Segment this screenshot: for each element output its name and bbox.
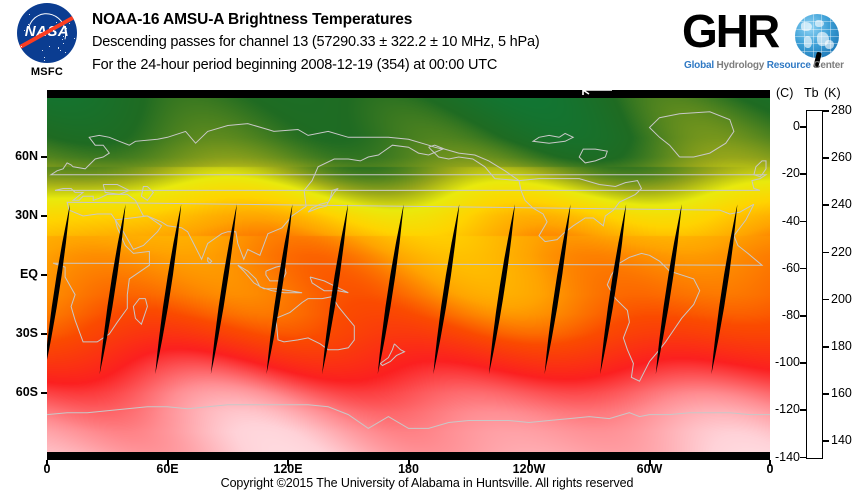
colorbar-tick-kelvin (823, 393, 829, 395)
globe-landmass (804, 36, 812, 48)
colorbar-tick-kelvin (823, 110, 829, 112)
map-xlabel: 180 (398, 462, 419, 476)
map-xlabel: 120E (273, 462, 302, 476)
map-ylabel: 60S (0, 385, 38, 399)
colorbar-tick-celsius (800, 315, 806, 317)
colorbar-tick-celsius (800, 126, 806, 128)
ghrc-subtitle-word-0: Global (684, 60, 714, 71)
swath-gap-layer (47, 98, 770, 452)
colorbar-label-kelvin: 220 (831, 245, 852, 259)
ghrc-wordmark: GHR (682, 8, 778, 54)
title-subline-channel: Descending passes for channel 13 (57290.… (92, 31, 672, 54)
nasa-star (56, 22, 57, 23)
map-xlabel: 120W (513, 462, 546, 476)
globe-landmass (825, 40, 834, 49)
ghrc-subtitle-word-2: Resource (767, 60, 811, 71)
swath-gap (100, 204, 126, 374)
colorbar-label-celsius: 0 (793, 119, 800, 133)
nasa-star (71, 58, 72, 59)
nasa-star (72, 54, 73, 55)
nasa-star (62, 39, 63, 40)
colorbar-variable-label: Tb (804, 86, 819, 100)
nasa-star (29, 14, 30, 15)
map-xlabel: 0 (767, 462, 774, 476)
colorbar-label-kelvin: 260 (831, 150, 852, 164)
colorbar-label-kelvin: 240 (831, 197, 852, 211)
map-ytick (41, 274, 47, 276)
swath-gap (378, 204, 404, 374)
title-block: NOAA-16 AMSU-A Brightness Temperatures D… (92, 8, 672, 77)
nasa-star (66, 28, 67, 29)
colorbar-tick-celsius (800, 173, 806, 175)
brightness-temperature-image (47, 98, 770, 452)
map-ylabel: 60N (0, 149, 38, 163)
ghrc-logo: GHR Global Hydrology Resource Center (682, 6, 848, 78)
swath-gap (211, 204, 237, 374)
swath-gap (600, 204, 626, 374)
nasa-center-label: MSFC (8, 66, 86, 78)
colorbar-label-celsius: -40 (782, 214, 800, 228)
swath-gap (155, 204, 181, 374)
colorbar-tick-celsius (800, 221, 806, 223)
map-plot-area[interactable] (47, 90, 770, 460)
swath-gap (545, 204, 571, 374)
colorbar-label-celsius: -100 (775, 355, 800, 369)
page-title: NOAA-16 AMSU-A Brightness Temperatures (92, 8, 672, 31)
map-xlabel: 60W (637, 462, 663, 476)
ghrc-subtitle-word-1: Hydrology (717, 60, 765, 71)
nasa-star (24, 30, 25, 31)
ascending-node-arrow-icon (578, 84, 614, 97)
globe-landmass (815, 20, 824, 27)
map-xlabel: 0 (44, 462, 51, 476)
swath-gap (47, 204, 70, 374)
nasa-star (63, 36, 64, 37)
colorbar-label-celsius: -60 (782, 261, 800, 275)
nasa-star (44, 57, 45, 58)
nasa-star (65, 52, 66, 53)
nasa-star (70, 11, 71, 12)
ghrc-subtitle-word-3: Center (813, 60, 843, 71)
swath-gap (711, 204, 737, 374)
page-header: NASA MSFC NOAA-16 AMSU-A Brightness Temp… (0, 0, 854, 88)
swath-gap (489, 204, 515, 374)
nasa-star (21, 46, 22, 47)
nasa-star (63, 43, 64, 44)
colorbar-label-kelvin: 180 (831, 339, 852, 353)
orbital-swath-gaps (47, 98, 770, 452)
swath-gap (322, 204, 348, 374)
colorbar-label-kelvin: 200 (831, 292, 852, 306)
colorbar-label-kelvin: 160 (831, 386, 852, 400)
map-ytick (41, 215, 47, 217)
nasa-star (60, 50, 61, 51)
map-ylabel: 30S (0, 326, 38, 340)
nasa-star (51, 35, 52, 36)
colorbar-tick-kelvin (823, 440, 829, 442)
nasa-star (28, 24, 29, 25)
colorbar-gradient-bar (806, 110, 823, 459)
map-ytick (41, 392, 47, 394)
nasa-star (66, 61, 67, 62)
nasa-star (58, 48, 59, 49)
copyright-notice: Copyright ©2015 The University of Alabam… (0, 476, 854, 490)
colorbar-tick-celsius (800, 268, 806, 270)
swath-gap (433, 204, 459, 374)
colorbar-tick-celsius (800, 457, 806, 459)
ghrc-subtitle: Global Hydrology Resource Center (684, 60, 844, 71)
colorbar-label-celsius: -140 (775, 450, 800, 464)
nasa-logo: NASA MSFC (8, 3, 86, 85)
colorbar-tick-kelvin (823, 346, 829, 348)
colorbar-label-celsius: -80 (782, 308, 800, 322)
colorbar-tick-kelvin (823, 299, 829, 301)
map-xlabel: 60E (156, 462, 178, 476)
colorbar-unit-celsius: (C) (776, 86, 793, 100)
globe-landmass (801, 22, 812, 31)
colorbar-label-celsius: -120 (775, 402, 800, 416)
map-ytick (41, 333, 47, 335)
nasa-star (69, 23, 70, 24)
map-ylabel: 30N (0, 208, 38, 222)
colorbar-label-kelvin: 140 (831, 433, 852, 447)
colorbar-label-kelvin: 280 (831, 103, 852, 117)
colorbar-tick-kelvin (823, 157, 829, 159)
map-ytick (41, 156, 47, 158)
swath-gap (656, 204, 682, 374)
colorbar-label-celsius: -20 (782, 166, 800, 180)
nasa-star (35, 26, 36, 27)
colorbar-tick-kelvin (823, 204, 829, 206)
colorbar: (C) Tb (K) 2802602402202001801601400-20-… (776, 86, 854, 476)
nasa-star (53, 30, 54, 31)
colorbar-unit-kelvin: (K) (824, 86, 841, 100)
colorbar-gradient-fill (807, 111, 822, 458)
title-subline-period: For the 24-hour period beginning 2008-12… (92, 54, 672, 77)
nasa-star (44, 60, 45, 61)
nasa-star (49, 46, 50, 47)
swath-gap (266, 204, 292, 374)
nasa-star (42, 50, 43, 51)
nasa-star (74, 38, 75, 39)
nasa-insignia-circle: NASA (17, 3, 77, 63)
colorbar-tick-celsius (800, 362, 806, 364)
map-ylabel: EQ (0, 267, 38, 281)
colorbar-tick-celsius (800, 409, 806, 411)
colorbar-tick-kelvin (823, 252, 829, 254)
